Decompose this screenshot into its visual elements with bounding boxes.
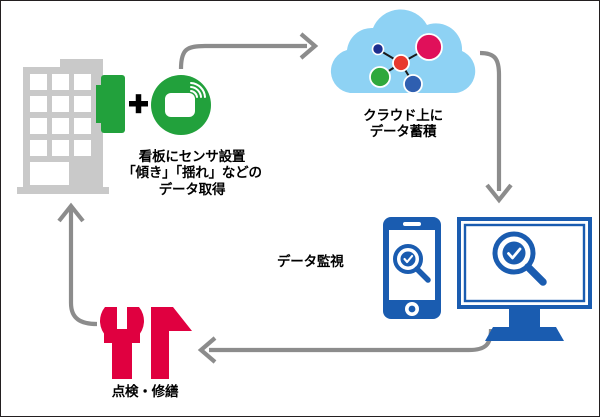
diagram-canvas: 看板にセンサ設置 「傾き」「揺れ」などの データ取得 クラウド上に データ蓄積 … bbox=[0, 0, 600, 417]
screwdriver-icon bbox=[151, 307, 192, 379]
repair-node-label: 点検・修繕 bbox=[75, 384, 215, 400]
cloud-node-label: クラウド上に データ蓄積 bbox=[337, 108, 469, 141]
sensor-node-label: 看板にセンサ設置 「傾き」「揺れ」などの データ取得 bbox=[119, 149, 265, 198]
repair-node-icon-group bbox=[1, 1, 600, 417]
wrench-icon bbox=[100, 307, 144, 379]
monitor-node-label: データ監視 bbox=[277, 254, 383, 270]
